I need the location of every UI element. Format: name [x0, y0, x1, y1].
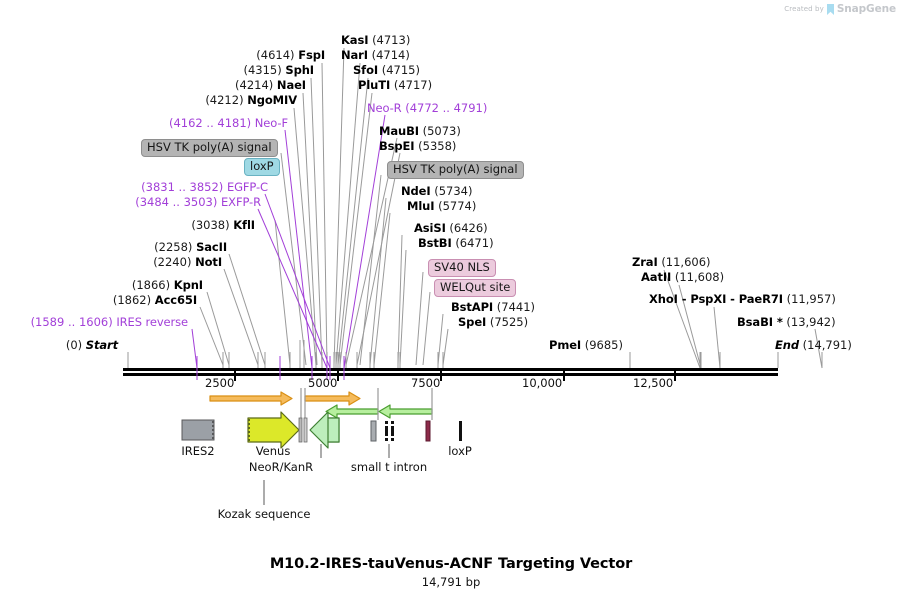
ruler-tick-label-12500: 12,500	[633, 376, 673, 390]
feature-label-loxp[interactable]: loxP	[410, 444, 510, 458]
feature-glyph-neor-kanr	[310, 412, 339, 448]
feature-glyph-ires2	[182, 420, 214, 440]
ruler-tick-label-2500: 2500	[205, 376, 234, 390]
snapgene-linear-map: Created by SnapGene	[0, 0, 902, 596]
orange-feature-arrow-2	[305, 392, 360, 405]
map-length: 14,791 bp	[0, 575, 902, 589]
ruler-tick-label-5000: 5000	[308, 376, 337, 390]
ruler-tick-label-7500: 7500	[411, 376, 440, 390]
feature-connectors	[301, 388, 432, 420]
green-feature-arrow-2	[379, 405, 432, 418]
map-title: M10.2-IRES-tauVenus-ACNF Targeting Vecto…	[0, 556, 902, 572]
feature-label-venus[interactable]: Venus	[223, 444, 323, 458]
feature-glyph-separators	[299, 418, 307, 442]
ruler-tick-label-10000: 10,000	[522, 376, 562, 390]
feature-label-kozak-sequence[interactable]: Kozak sequence	[214, 507, 314, 521]
backbone-line-top	[123, 368, 778, 371]
feature-glyph-small-bars	[371, 421, 462, 441]
feature-label-neor-kanr[interactable]: NeoR/KanR	[231, 460, 331, 474]
sequence-backbone-and-features	[0, 0, 902, 596]
cut-site-ticks	[128, 352, 822, 368]
orange-feature-arrow-1	[210, 392, 292, 405]
feature-glyph-venus	[248, 412, 299, 448]
feature-label-small-t-intron[interactable]: small t intron	[339, 460, 439, 474]
green-feature-arrow-1	[326, 405, 378, 418]
